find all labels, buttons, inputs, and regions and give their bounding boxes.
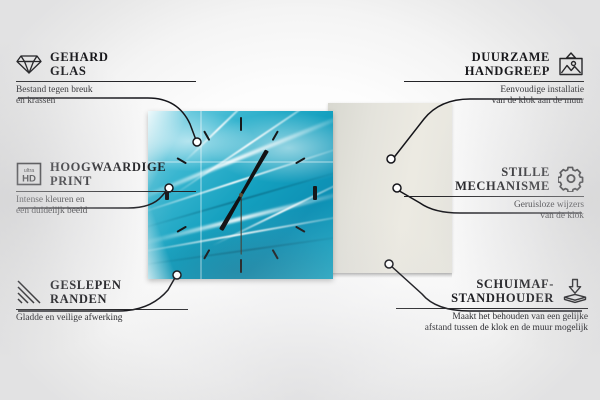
feature-description: Bestand tegen breuk en krassen	[16, 85, 196, 108]
hour-marker	[240, 259, 242, 273]
diamond-icon	[16, 51, 42, 77]
feature-description: Intense kleuren en een duidelijk beeld	[16, 195, 196, 218]
product-infographic: GEHARD GLAS Bestand tegen breuk en krass…	[0, 0, 600, 400]
feature-head: DUURZAME HANDGREEP	[404, 50, 584, 78]
feature-head: GESLEPEN RANDEN	[16, 278, 196, 306]
feature-head: GEHARD GLAS	[16, 50, 196, 78]
feature-divider	[404, 81, 584, 82]
ultra-hd-icon: ultra HD	[16, 161, 42, 187]
hand-center-cap	[239, 193, 243, 197]
arrow-down-stack-icon	[562, 278, 588, 304]
feature-duurzame-handgreep: DUURZAME HANDGREEP Eenvoudige installati…	[404, 50, 584, 108]
feature-description: Maakt het behouden van een gelijke afsta…	[396, 312, 588, 335]
feature-divider	[16, 191, 196, 192]
feature-divider	[16, 81, 196, 82]
gear-icon	[558, 166, 584, 192]
feature-hoogwaardige-print: ultra HD HOOGWAARDIGE PRINT Intense kleu…	[16, 160, 196, 218]
hour-marker	[240, 117, 242, 131]
feature-geslepen-randen: GESLEPEN RANDEN Gladde en veilige afwerk…	[16, 278, 196, 324]
feature-title: DUURZAME HANDGREEP	[465, 50, 550, 78]
feature-stille-mechanisme: STILLE MECHANISME Geruisloze wijzers van…	[404, 165, 584, 223]
feature-title: HOOGWAARDIGE PRINT	[50, 160, 166, 188]
beveled-edges-icon	[16, 279, 42, 305]
feature-description: Gladde en veilige afwerking	[16, 313, 196, 324]
feature-head: STILLE MECHANISME	[404, 165, 584, 193]
feature-description: Eenvoudige installatie van de klok aan d…	[404, 85, 584, 108]
feature-divider	[404, 196, 584, 197]
feature-gehard-glas: GEHARD GLAS Bestand tegen breuk en krass…	[16, 50, 196, 108]
feature-title: GESLEPEN RANDEN	[50, 278, 122, 306]
feature-divider	[396, 308, 588, 309]
feature-head: ultra HD HOOGWAARDIGE PRINT	[16, 160, 196, 188]
feature-description: Geruisloze wijzers van de klok	[404, 200, 584, 223]
feature-divider	[16, 309, 188, 310]
feature-title: STILLE MECHANISME	[455, 165, 550, 193]
feature-title: GEHARD GLAS	[50, 50, 108, 78]
svg-text:HD: HD	[22, 174, 36, 185]
second-hand	[240, 195, 241, 255]
feature-head: SCHUIMAF- STANDHOUDER	[396, 277, 588, 305]
feature-title: SCHUIMAF- STANDHOUDER	[451, 277, 554, 305]
feature-schuimafstandhouder: SCHUIMAF- STANDHOUDER Maakt het behouden…	[396, 277, 588, 335]
hanging-picture-icon	[558, 51, 584, 77]
hour-marker	[313, 186, 317, 200]
